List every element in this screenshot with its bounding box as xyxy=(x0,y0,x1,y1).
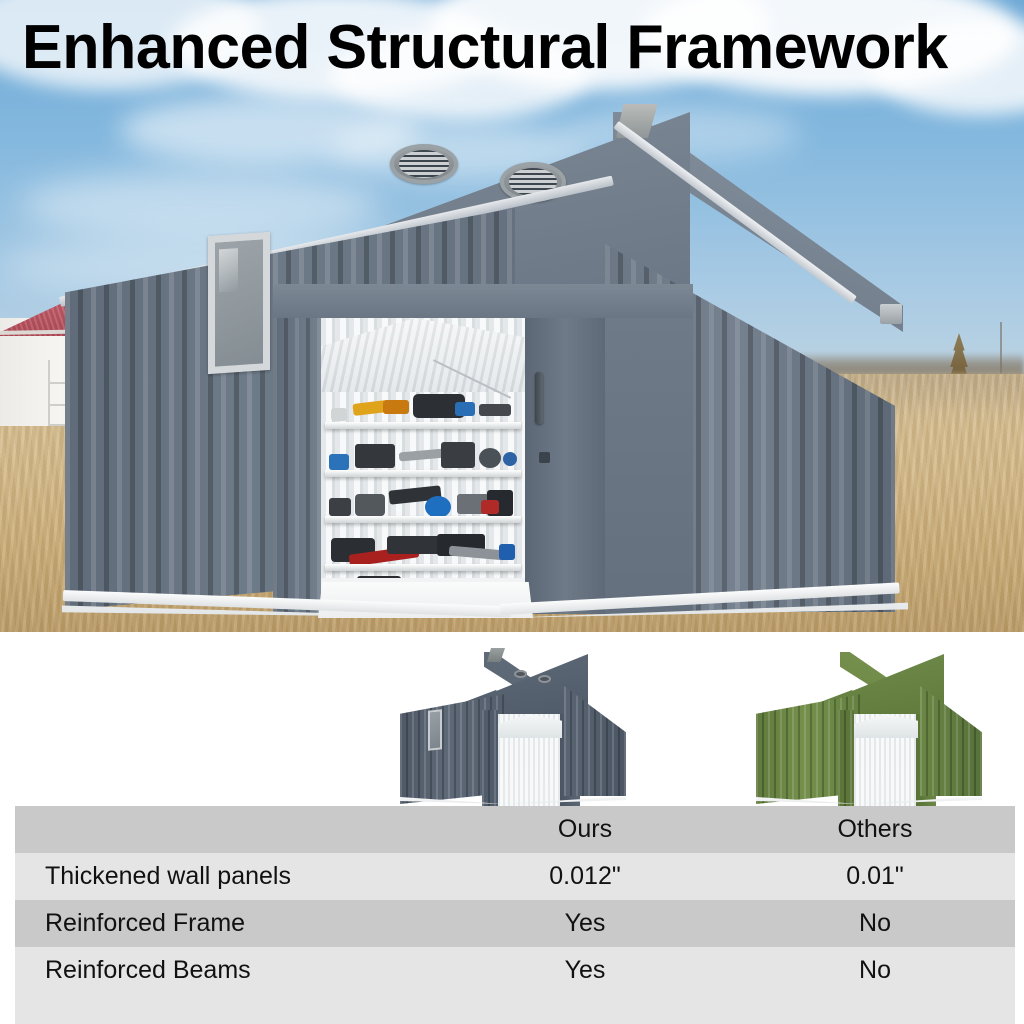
door-handle-icon xyxy=(535,372,543,424)
header-others: Others xyxy=(735,806,1015,853)
roof-corner-cap xyxy=(880,304,902,324)
row-ours-value: Yes xyxy=(435,947,735,994)
interior-shelf xyxy=(325,564,521,571)
header-ours: Ours xyxy=(435,806,735,853)
gable-vent-icon xyxy=(390,144,458,184)
row-ours-value: 0.012" xyxy=(435,853,735,900)
shelf-items xyxy=(329,390,517,424)
thumb-front-jamb xyxy=(838,710,854,806)
ours-shed-thumbnail xyxy=(392,648,636,798)
utility-pole xyxy=(1000,322,1002,382)
door-header-beam xyxy=(273,284,693,318)
shelf-items xyxy=(329,484,517,518)
row-others-value: 0.01" xyxy=(735,853,1015,900)
thumb-vent-icon xyxy=(538,675,551,683)
thumb-right-wall xyxy=(564,686,626,796)
product-feature-banner: Enhanced Structural Framework xyxy=(0,0,1024,1024)
row-feature-label: Reinforced Beams xyxy=(15,947,435,994)
row-ours-value: Yes xyxy=(435,900,735,947)
thumb-window xyxy=(428,709,442,750)
shelf-items xyxy=(329,530,517,564)
main-shed xyxy=(60,104,900,614)
table-row: Reinforced Frame Yes No xyxy=(15,900,1015,947)
shed-door-opening xyxy=(321,318,525,614)
row-feature-label: Thickened wall panels xyxy=(15,853,435,900)
footer-cell xyxy=(15,994,1015,1024)
table-row: Thickened wall panels 0.012" 0.01" xyxy=(15,853,1015,900)
header-blank xyxy=(15,806,435,853)
shelf-items xyxy=(329,438,517,472)
page-title: Enhanced Structural Framework xyxy=(22,14,948,82)
others-shed-thumbnail xyxy=(748,648,992,798)
comparison-thumbnail-row xyxy=(0,632,1024,804)
table-footer-spacer xyxy=(15,994,1015,1024)
thumb-door-opening xyxy=(854,714,918,806)
row-others-value: No xyxy=(735,900,1015,947)
table-row: Reinforced Beams Yes No xyxy=(15,947,1015,994)
hero-product-photo: Enhanced Structural Framework xyxy=(0,0,1024,632)
interior-shelf xyxy=(325,470,521,477)
thumb-door-opening xyxy=(498,714,562,806)
thumb-vent-icon xyxy=(514,670,527,678)
sliding-door-panel xyxy=(525,318,605,614)
interior-shelf xyxy=(325,422,521,429)
thumb-front-jamb xyxy=(482,710,498,806)
thumb-right-wall xyxy=(920,686,982,796)
interior-shelf xyxy=(325,516,521,523)
comparison-table: Ours Others Thickened wall panels 0.012"… xyxy=(15,806,1015,1024)
row-feature-label: Reinforced Frame xyxy=(15,900,435,947)
door-jamb-left xyxy=(273,284,321,614)
shed-window xyxy=(208,232,270,374)
door-lock-icon xyxy=(539,452,550,463)
row-others-value: No xyxy=(735,947,1015,994)
table-header-row: Ours Others xyxy=(15,806,1015,853)
